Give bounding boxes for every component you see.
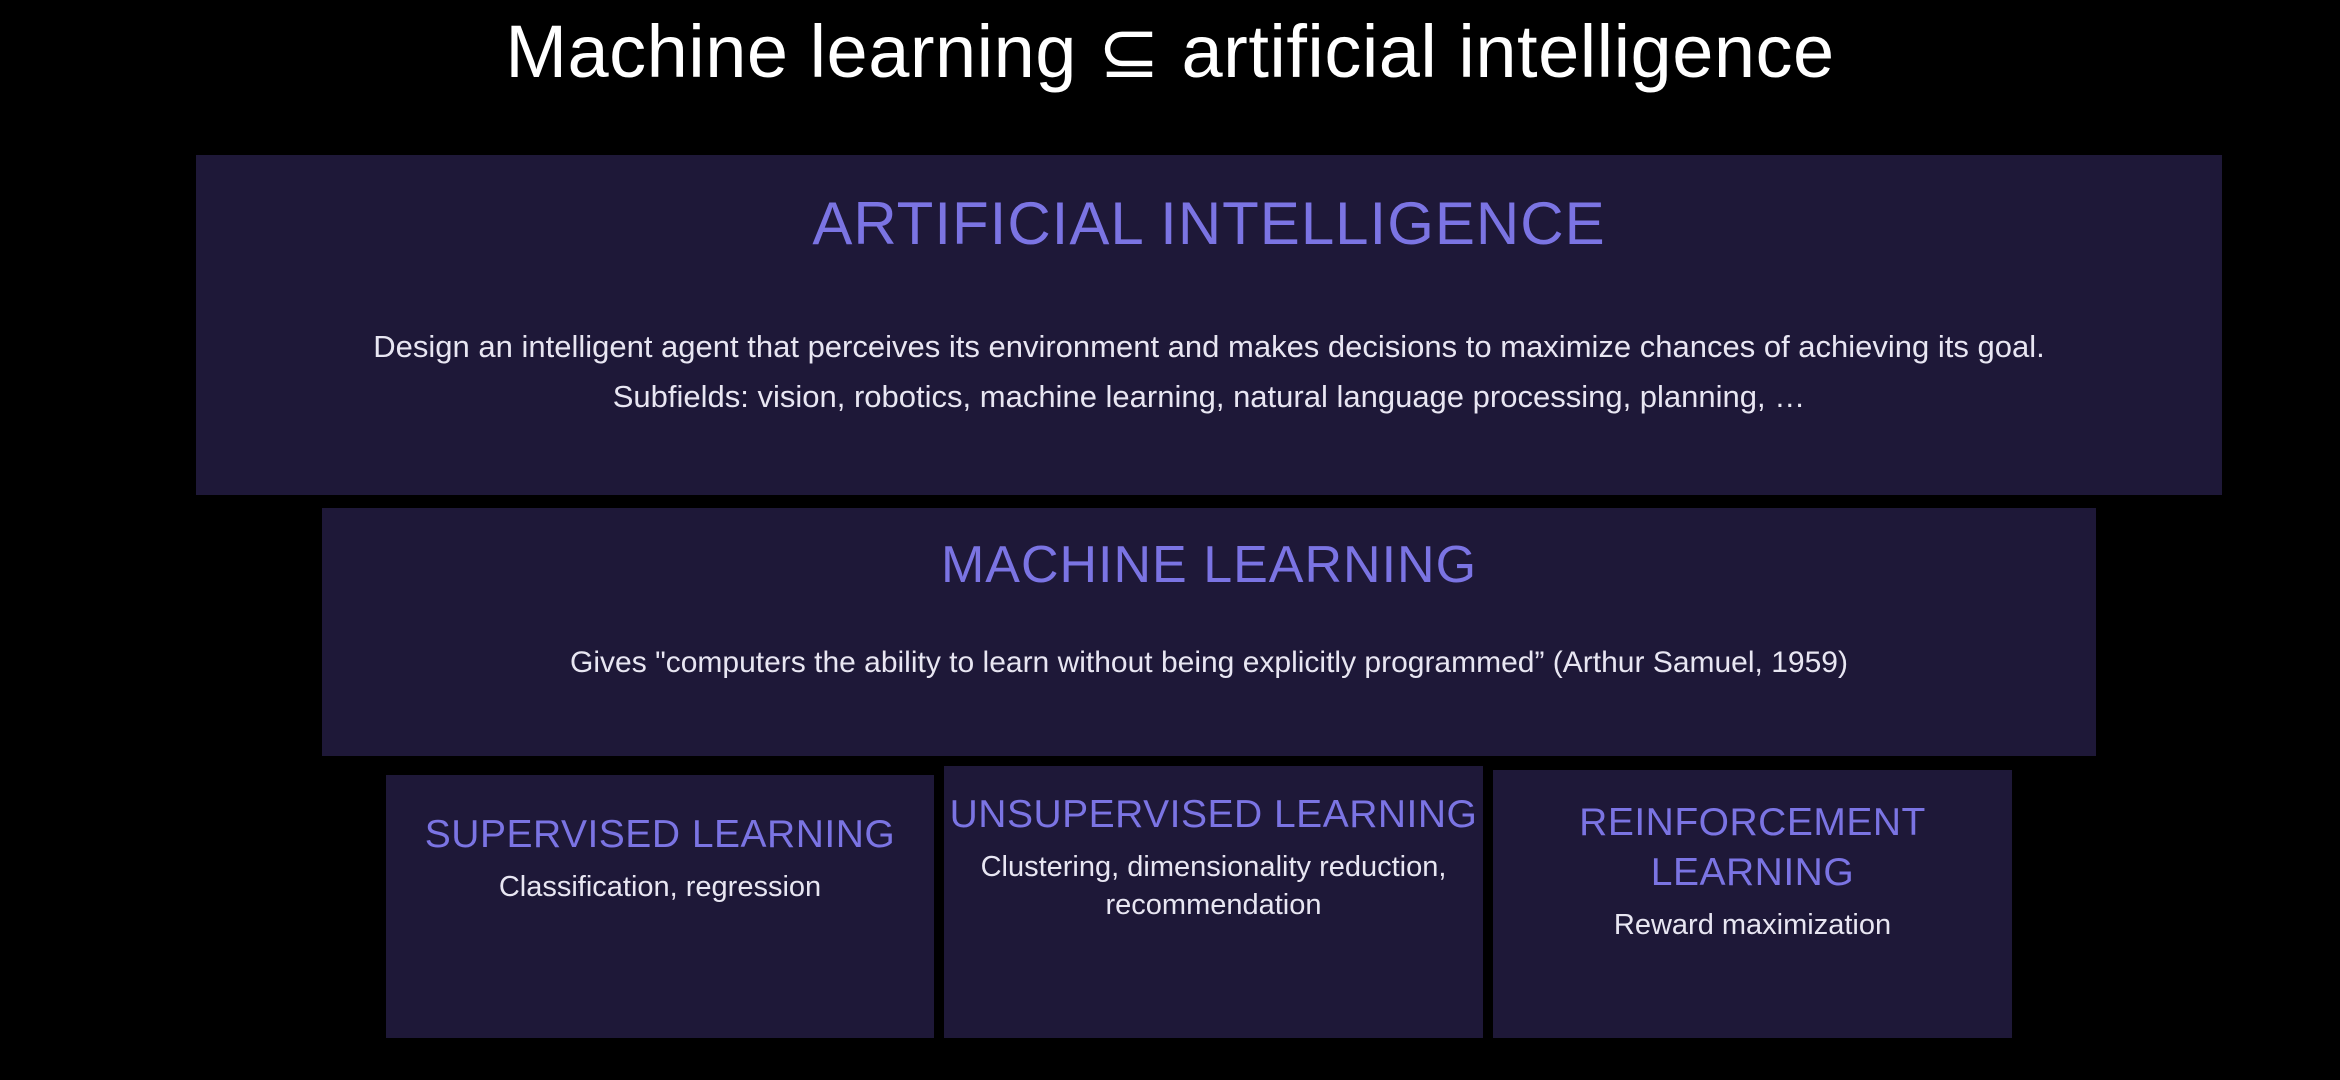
reinforcement-learning-description: Reward maximization [1493, 906, 2012, 944]
supervised-learning-description: Classification, regression [386, 868, 934, 906]
reinforcement-learning-heading: REINFORCEMENT LEARNING [1493, 798, 2012, 898]
machine-learning-heading: MACHINE LEARNING [322, 533, 2096, 597]
machine-learning-panel: MACHINE LEARNING Gives "computers the ab… [322, 508, 2096, 756]
reinforcement-learning-panel: REINFORCEMENT LEARNING Reward maximizati… [1493, 770, 2012, 1038]
unsupervised-learning-description: Clustering, dimensionality reduction, re… [944, 848, 1483, 924]
machine-learning-body: Gives "computers the ability to learn wi… [322, 641, 2096, 685]
artificial-intelligence-subfields-line: Subfields: vision, robotics, machine lea… [220, 372, 2198, 422]
supervised-learning-heading: SUPERVISED LEARNING [386, 810, 934, 860]
slide-canvas: Machine learning ⊆ artificial intelligen… [0, 0, 2340, 1080]
supervised-learning-panel: SUPERVISED LEARNING Classification, regr… [386, 775, 934, 1038]
artificial-intelligence-heading: ARTIFICIAL INTELLIGENCE [196, 188, 2222, 260]
machine-learning-quote-line: Gives "computers the ability to learn wi… [346, 641, 2072, 685]
artificial-intelligence-panel: ARTIFICIAL INTELLIGENCE Design an intell… [196, 155, 2222, 495]
unsupervised-learning-heading: UNSUPERVISED LEARNING [944, 790, 1483, 840]
artificial-intelligence-description-line: Design an intelligent agent that perceiv… [220, 322, 2198, 372]
unsupervised-learning-panel: UNSUPERVISED LEARNING Clustering, dimens… [944, 766, 1483, 1038]
artificial-intelligence-body: Design an intelligent agent that perceiv… [196, 322, 2222, 422]
page-title: Machine learning ⊆ artificial intelligen… [0, 4, 2340, 100]
